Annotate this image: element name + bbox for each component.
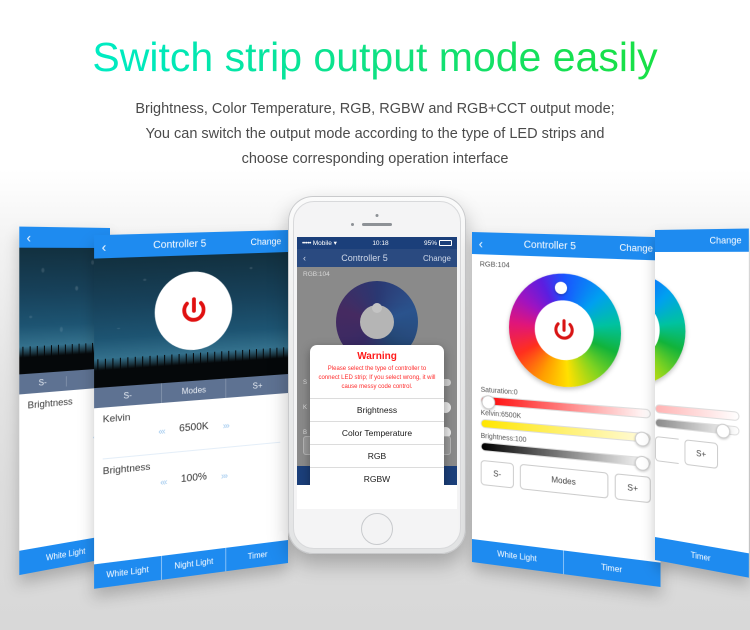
phone-navbar: ‹ Controller 5 Change: [297, 249, 457, 267]
home-button[interactable]: [361, 513, 393, 545]
signal-dots-icon: •••••: [302, 240, 311, 247]
dialog-option-rgb[interactable]: RGB: [310, 444, 444, 467]
power-icon: [550, 316, 576, 344]
chevron-left-icon[interactable]: ‹: [479, 237, 483, 250]
screen2-kelvin-value: 6500K: [179, 421, 208, 435]
screen4-btn-s-plus[interactable]: S+: [615, 473, 651, 503]
screen2-brightness-increase[interactable]: ›››: [221, 470, 227, 481]
screen5-change-button[interactable]: Change: [709, 235, 741, 246]
screen1-brightness-label: Brightness: [28, 394, 103, 412]
page-title: Switch strip output mode easily: [0, 32, 750, 82]
phone-display: ••••• Mobile ▾ 10:18 95% ‹ Controller 5 …: [297, 237, 457, 509]
warning-dialog-title: Warning: [310, 345, 444, 365]
screen5-btn-s-plus[interactable]: S+: [684, 439, 718, 469]
slider-knob[interactable]: [482, 395, 496, 410]
phone-nav-title: Controller 5: [341, 253, 388, 263]
screen2-tabbar: White Light Night Light Timer: [94, 540, 288, 589]
phone-change-button[interactable]: Change: [423, 254, 451, 263]
power-button[interactable]: [534, 299, 593, 362]
screen2-tab-night-light[interactable]: Night Light: [161, 548, 226, 580]
page-subtitle: Brightness, Color Temperature, RGB, RGBW…: [0, 97, 750, 172]
screen5-wheel-area: [655, 252, 749, 411]
chevron-left-icon[interactable]: ‹: [303, 253, 306, 263]
iphone-device: ••••• Mobile ▾ 10:18 95% ‹ Controller 5 …: [288, 196, 466, 554]
battery-icon: [439, 240, 452, 246]
proximity-sensor-icon: [351, 223, 354, 226]
subtitle-line-3: choose corresponding operation interface: [0, 147, 750, 172]
screen2-brightness-value: 100%: [181, 471, 207, 485]
screen5-tab-timer[interactable]: Timer: [655, 537, 749, 578]
warning-dialog-message: Please select the type of controller to …: [310, 365, 444, 398]
subtitle-line-1: Brightness, Color Temperature, RGB, RGBW…: [0, 97, 750, 122]
status-time: 10:18: [372, 240, 388, 247]
subtitle-line-2: You can switch the output mode according…: [0, 122, 750, 147]
screen4-tabbar: White Light Timer: [472, 539, 661, 587]
dialog-option-color-temperature[interactable]: Color Temperature: [310, 421, 444, 444]
chevron-left-icon[interactable]: ‹: [102, 240, 107, 254]
screen2-brightness-field: Brightness ‹‹‹ 100% ›››: [94, 442, 288, 496]
warning-dialog: Warning Please select the type of contro…: [310, 345, 444, 485]
phone-mode-label: RGB:104: [303, 271, 330, 278]
color-wheel-center[interactable]: [655, 300, 660, 360]
slider-knob[interactable]: [635, 455, 650, 471]
chevron-left-icon[interactable]: ‹: [27, 230, 31, 244]
screen2-title: Controller 5: [153, 238, 206, 251]
screen2-brightness-decrease[interactable]: ‹‹‹: [160, 476, 166, 487]
screen1-btn-s-minus[interactable]: S-: [19, 371, 65, 394]
phone-content-dimmed: RGB:104 S K B S- Modes S+: [297, 267, 457, 485]
screen5-topbar: Change: [655, 229, 749, 252]
status-left: ••••• Mobile ▾: [302, 239, 337, 247]
color-wheel-knob[interactable]: [554, 281, 566, 294]
screen2-kelvin-decrease[interactable]: ‹‹‹: [158, 425, 164, 436]
screen2-kelvin-increase[interactable]: ›››: [223, 420, 229, 431]
screen4-change-button[interactable]: Change: [619, 242, 653, 254]
app-screen-white-light[interactable]: ‹ Controller 5 Change S- Modes S+ Kelvin…: [94, 230, 288, 589]
screen4-tab-timer[interactable]: Timer: [563, 550, 661, 587]
power-icon: [179, 295, 210, 327]
carrier-label: Mobile: [313, 240, 332, 247]
slider-knob[interactable]: [635, 431, 650, 447]
rgb-color-wheel[interactable]: [508, 271, 620, 391]
dialog-option-rgbw[interactable]: RGBW: [310, 467, 444, 485]
screen2-tab-white-light[interactable]: White Light: [94, 556, 161, 589]
screen2-night-sky: [94, 252, 288, 388]
color-wheel-knob[interactable]: [372, 303, 382, 313]
screen5-tabbar: Timer: [655, 537, 749, 578]
front-camera-icon: [376, 214, 379, 217]
screen4-btn-s-minus[interactable]: S-: [481, 460, 514, 489]
app-screen-rgb[interactable]: ‹ Controller 5 Change RGB:104 Saturation…: [472, 232, 661, 587]
dialog-option-brightness[interactable]: Brightness: [310, 398, 444, 421]
screen4-wheel-wrap: [472, 268, 661, 398]
screen2-tab-timer[interactable]: Timer: [226, 540, 288, 571]
screen4-tab-white-light[interactable]: White Light: [472, 539, 563, 574]
wifi-icon: ▾: [334, 240, 337, 247]
power-button[interactable]: [155, 270, 233, 352]
screen4-btn-modes[interactable]: Modes: [520, 464, 609, 499]
battery-percent: 95%: [424, 240, 437, 247]
app-screen-rgb-partial[interactable]: Change S+ Timer: [655, 229, 749, 578]
rgb-color-wheel[interactable]: [655, 273, 685, 388]
battery-indicator: 95%: [424, 240, 452, 247]
screen4-title: Controller 5: [524, 239, 576, 252]
earpiece-speaker-icon: [362, 223, 392, 226]
ios-status-bar: ••••• Mobile ▾ 10:18 95%: [297, 237, 457, 249]
screen2-change-button[interactable]: Change: [251, 236, 282, 247]
